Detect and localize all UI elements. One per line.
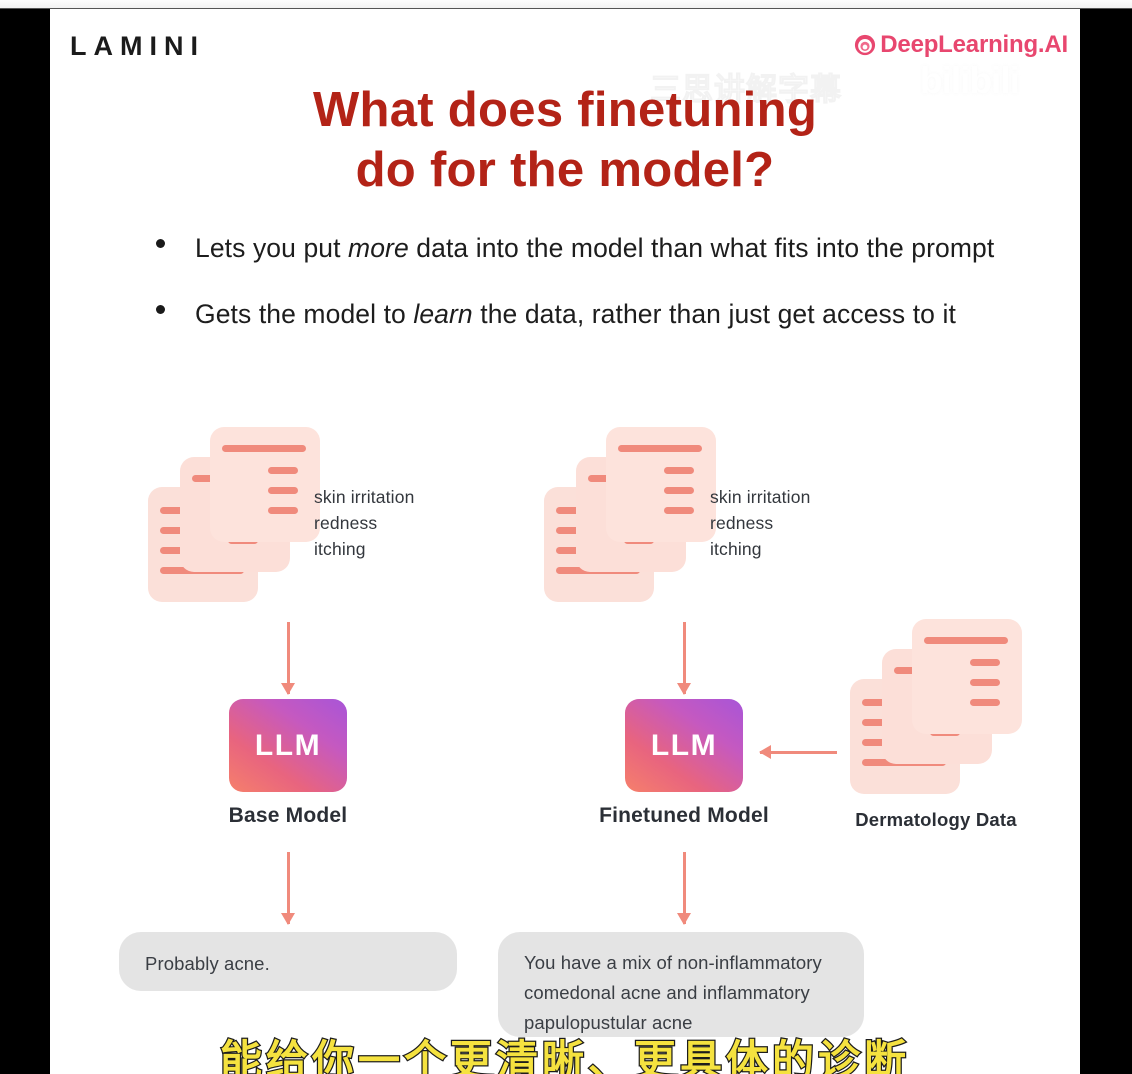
letterbox-left: [0, 9, 50, 1074]
arrow-left-dermatology: [760, 745, 837, 759]
chinese-subtitle: 能给你一个更清晰、更具体的诊断: [50, 1027, 1080, 1074]
llm-box-finetuned: LLM: [625, 699, 743, 792]
finetuning-diagram: skin irritation redness itching LLM Base…: [50, 427, 1080, 1074]
base-model-label: Base Model: [178, 804, 398, 828]
document-card: [912, 619, 1022, 734]
llm-box-base: LLM: [229, 699, 347, 792]
title-line-1: What does finetuning: [50, 81, 1080, 141]
arrow-down-right-bottom: [677, 852, 691, 924]
lamini-logo: LAMINI: [70, 31, 205, 62]
output-bubble-base: Probably acne.: [119, 932, 457, 991]
output-bubble-base-text: Probably acne.: [145, 949, 431, 979]
arrow-down-left-top: [281, 622, 295, 694]
bullet-pre: Gets the model to: [195, 299, 413, 329]
bullet-dot-icon: [156, 239, 165, 248]
bullet-emphasis: more: [348, 233, 409, 263]
output-bubble-finetuned-text: You have a mix of non-inflammatory comed…: [524, 948, 838, 1038]
bullet-item: Gets the model to learn the data, rather…: [140, 289, 1020, 340]
deeplearning-ai-wordmark: DeepLearning.AI: [880, 31, 1068, 59]
bullet-post: data into the model than what fits into …: [409, 233, 995, 263]
slide-title: What does finetuning do for the model?: [50, 81, 1080, 201]
letterbox-right: [1080, 9, 1132, 1074]
bullet-emphasis: learn: [413, 299, 472, 329]
document-stack-right: [544, 427, 704, 602]
title-line-2: do for the model?: [50, 141, 1080, 201]
dermatology-data-label: Dermatology Data: [806, 809, 1066, 831]
bullet-text: Gets the model to learn the data, rather…: [195, 289, 1020, 340]
deeplearning-spiral-icon: [854, 34, 876, 56]
arrow-down-right-top: [677, 622, 691, 694]
deeplearning-ai-logo: DeepLearning.AI: [854, 31, 1068, 59]
player-top-strip: [0, 0, 1132, 9]
finetuned-model-label: Finetuned Model: [539, 804, 829, 828]
bullet-item: Lets you put more data into the model th…: [140, 223, 1020, 274]
bullet-pre: Lets you put: [195, 233, 348, 263]
output-bubble-finetuned: You have a mix of non-inflammatory comed…: [498, 932, 864, 1037]
bullet-post: the data, rather than just get access to…: [473, 299, 956, 329]
bullet-dot-icon: [156, 305, 165, 314]
arrow-down-left-bottom: [281, 852, 295, 924]
bullet-list: Lets you put more data into the model th…: [140, 223, 1020, 355]
document-card: [210, 427, 320, 542]
document-card: [606, 427, 716, 542]
stack-label-left: skin irritation redness itching: [314, 485, 414, 563]
document-stack-left: [148, 427, 308, 602]
bullet-text: Lets you put more data into the model th…: [195, 223, 1020, 274]
slide-canvas: LAMINI DeepLearning.AI 三思讲解字幕 bilibili W…: [50, 9, 1080, 1074]
stack-label-right: skin irritation redness itching: [710, 485, 810, 563]
video-player: LAMINI DeepLearning.AI 三思讲解字幕 bilibili W…: [0, 0, 1132, 1074]
document-stack-dermatology: [850, 619, 1010, 794]
